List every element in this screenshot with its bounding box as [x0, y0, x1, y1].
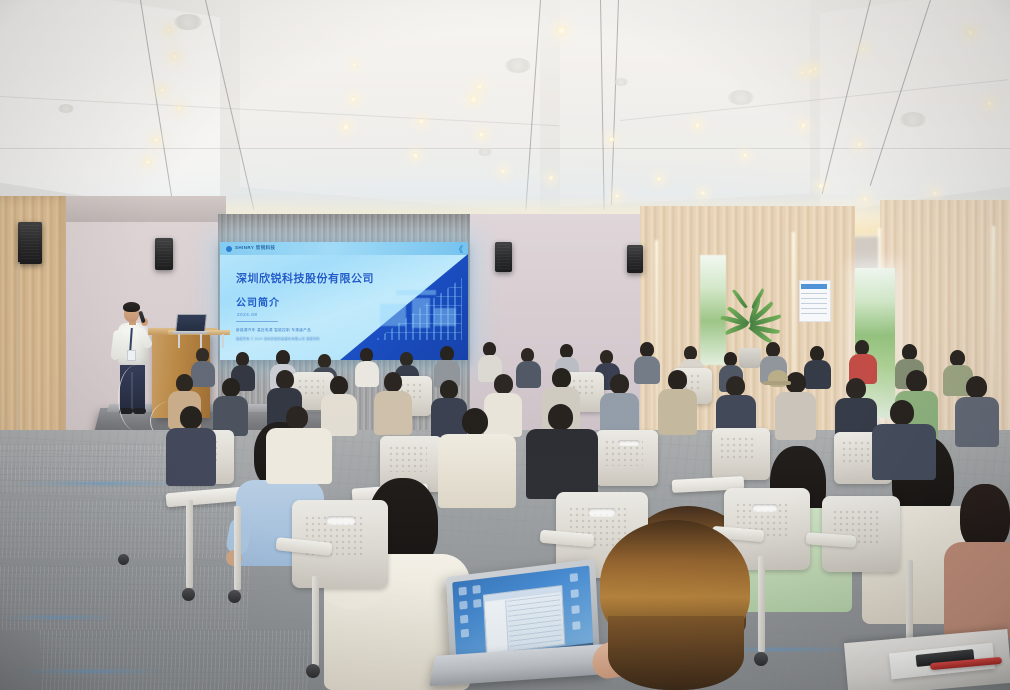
- chair-frame: [312, 576, 319, 666]
- loudspeaker-icon: [155, 238, 173, 270]
- chair-handle: [326, 516, 356, 525]
- slide-subtitle: 公司简介: [236, 294, 280, 309]
- ceiling-diffuser-icon: [614, 78, 628, 86]
- ceiling-speaker-icon: [505, 58, 531, 73]
- notice-text-lines: [801, 293, 827, 317]
- ceiling-diffuser-icon: [58, 104, 74, 113]
- left-soffit: [66, 196, 226, 222]
- foreground-attendee: [600, 520, 800, 690]
- chair-handle: [752, 504, 778, 512]
- chair-caster: [228, 590, 241, 603]
- slide-corner-mark: 《: [455, 244, 463, 255]
- window-sidebar: [485, 600, 508, 653]
- slide-company-title: 深圳欣锐科技股份有限公司: [236, 270, 374, 286]
- slide-logo-text: SHINRY 欣锐科技: [235, 245, 275, 251]
- ceiling-speaker-icon: [174, 14, 202, 30]
- loudspeaker-icon: [495, 242, 512, 272]
- conference-room-photo: SHINRY 欣锐科技 《 深圳欣锐科技股份有限公司 公司简介 2024.08 …: [0, 0, 1010, 690]
- chair-frame: [234, 506, 241, 590]
- slide-divider: [236, 321, 278, 322]
- ceiling-speaker-icon: [900, 112, 926, 127]
- ceiling-speaker-icon: [728, 90, 754, 105]
- chair-caster: [182, 588, 195, 601]
- company-logo-icon: [226, 246, 232, 252]
- chair-handle: [588, 508, 616, 517]
- chair-caster: [118, 554, 129, 565]
- window-rows: [507, 594, 562, 649]
- chair-caster: [306, 664, 320, 678]
- slide-date: 2024.08: [237, 312, 257, 317]
- notice-header: [801, 284, 827, 289]
- chair-frame: [186, 500, 193, 588]
- loudspeaker-icon: [627, 245, 643, 273]
- ceiling-diffuser-icon: [478, 148, 492, 156]
- loudspeaker-icon: [18, 222, 42, 264]
- open-file-window: [483, 585, 566, 655]
